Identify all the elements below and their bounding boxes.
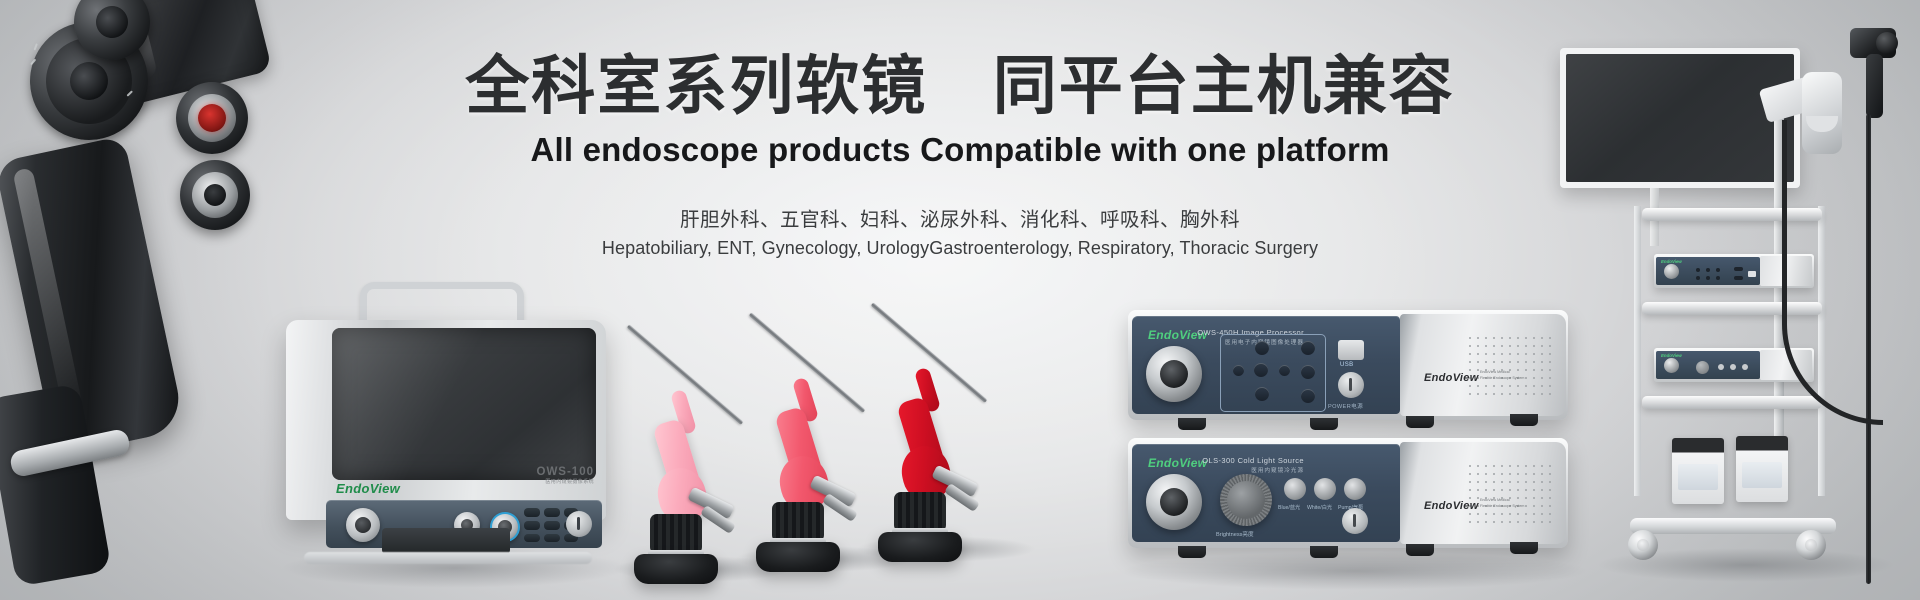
departments-chinese: 肝胆外科、五官科、妇科、泌尿外科、消化科、呼吸科、胸外科 <box>0 203 1920 232</box>
cold-light-source-ols300: EndoView OLS-300 Cold Light Source 医用内窥镜… <box>1128 438 1568 548</box>
cart-caster-right <box>1796 530 1826 560</box>
brand-endo: Endo <box>1424 500 1453 512</box>
headline-cn-part1: 全科室系列软镜 <box>465 50 927 122</box>
workstation-key-7 <box>524 534 540 542</box>
keypad-freeze-button[interactable] <box>1301 365 1315 379</box>
workstation-power-button[interactable] <box>566 511 592 537</box>
brand-view: View <box>370 481 400 496</box>
processor-vent-grille <box>1466 334 1552 400</box>
processor-foot-mid <box>1310 418 1338 430</box>
cart-unit-connector <box>1664 264 1679 279</box>
cart-insufflator-display <box>1678 464 1718 490</box>
processor-usb-label: USB <box>1340 362 1354 368</box>
keypad-enter-button[interactable] <box>1254 363 1268 377</box>
workstation-scope-socket <box>346 508 380 542</box>
cart-unit-btn-2[interactable] <box>1706 268 1710 272</box>
keypad-down-button[interactable] <box>1255 387 1269 401</box>
hanging-scope-angulation-knob <box>1876 32 1898 54</box>
light-source-side-brand: EndoView <box>1424 500 1479 512</box>
processor-power-button[interactable] <box>1338 372 1364 398</box>
cart-unit-btn-5[interactable] <box>1706 276 1710 280</box>
light-source-power-button[interactable] <box>1342 508 1368 534</box>
keypad-menu-button[interactable] <box>1301 389 1315 403</box>
cart-unit-lamp-1[interactable] <box>1718 364 1724 370</box>
workstation-brand-logo: EndoView <box>336 481 400 496</box>
brand-view: View <box>1453 372 1479 384</box>
keypad-left-button[interactable] <box>1233 365 1244 376</box>
light-source-brightness-dial[interactable] <box>1220 474 1272 526</box>
cart-unit-key-2[interactable] <box>1734 276 1743 280</box>
light-source-model-label-cn: 医用内窥镜冷光源 <box>1251 466 1304 474</box>
light-source-blue-label: Blue/蓝光 <box>1278 504 1300 511</box>
processor-stack: EndoView OWS-450H Image Processor 医用电子内窥… <box>1128 310 1578 580</box>
rigid-scope-stand-foot <box>756 542 840 572</box>
banner-text-block: 全科室系列软镜 同平台主机兼容 All endoscope products C… <box>0 52 1920 259</box>
rigid-scope-collar <box>650 514 702 554</box>
cart-insufflator <box>1672 438 1724 504</box>
processor-foot-left <box>1178 418 1206 430</box>
rigid-endoscope-red <box>864 296 1054 566</box>
light-source-foot-right <box>1406 544 1434 556</box>
workstation-key-8 <box>544 534 560 542</box>
cart-shelf-bottom <box>1642 396 1822 409</box>
product-banner: 全科室系列软镜 同平台主机兼容 All endoscope products C… <box>0 0 1920 600</box>
keypad-right-button[interactable] <box>1279 365 1290 376</box>
processor-side-badge-2: Flexible Endoscope System <box>1480 376 1524 381</box>
cart-unit-btn-4[interactable] <box>1696 276 1700 280</box>
cart-unit-face: EndoView <box>1656 257 1760 285</box>
cart-unit-dial[interactable] <box>1696 361 1709 374</box>
light-source-white-label: White/白光 <box>1307 504 1332 511</box>
light-source-white-button[interactable] <box>1314 478 1336 500</box>
processor-power-label: POWER电源 <box>1328 402 1363 410</box>
brand-view: View <box>1672 353 1682 358</box>
processor-side-panel <box>1400 314 1566 416</box>
rigid-scope-stand-foot <box>878 532 962 562</box>
workstation-key-4 <box>524 521 540 530</box>
workstation-stand-neck <box>382 528 510 554</box>
image-processor-ows450h: EndoView OWS-450H Image Processor 医用电子内窥… <box>1128 310 1568 420</box>
workstation-key-1 <box>524 508 540 517</box>
processor-side-badge-1: EndoView Medical <box>1480 370 1510 375</box>
light-source-blue-button[interactable] <box>1284 478 1306 500</box>
light-source-foot-mid <box>1310 546 1338 558</box>
cart-unit-connector <box>1664 358 1679 373</box>
brand-endo: Endo <box>1148 328 1179 342</box>
brand-endo: Endo <box>336 481 370 496</box>
light-source-foot-left <box>1178 546 1206 558</box>
rigid-scope-collar <box>894 492 946 532</box>
cart-unit-btn-1[interactable] <box>1696 268 1700 272</box>
light-source-vent-grille <box>1466 462 1552 528</box>
rigid-scope-stand-foot <box>634 554 718 584</box>
light-source-brightness-label: Brightness亮度 <box>1216 530 1254 538</box>
workstation-base-plate <box>304 552 592 564</box>
keypad-up-button[interactable] <box>1255 341 1269 355</box>
processor-front-panel: EndoView OWS-450H Image Processor 医用电子内窥… <box>1132 316 1400 414</box>
brand-view: View <box>1672 259 1682 264</box>
brand-view: View <box>1453 500 1479 512</box>
rigid-scope-collar <box>772 502 824 542</box>
headline-chinese: 全科室系列软镜 同平台主机兼容 <box>0 52 1920 121</box>
headline-cn-part2: 同平台主机兼容 <box>993 50 1455 122</box>
light-source-fiber-connector <box>1146 474 1202 530</box>
workstation-key-5 <box>544 521 560 530</box>
brand-endo: Endo <box>1424 372 1453 384</box>
light-source-model-label: OLS-300 Cold Light Source <box>1202 456 1304 465</box>
cart-unit-lamp-2[interactable] <box>1730 364 1736 370</box>
workstation-model-label: OWS-100 <box>537 466 595 478</box>
processor-scope-connector <box>1146 346 1202 402</box>
cart-unit-btn-6[interactable] <box>1716 276 1720 280</box>
cart-irrigation-display <box>1742 462 1782 488</box>
workstation-brand-row: EndoView OWS-100 医用内窥镜摄像系统 <box>330 480 598 500</box>
light-source-brand-logo: EndoView <box>1148 456 1207 470</box>
light-source-front-panel: EndoView OLS-300 Cold Light Source 医用内窥镜… <box>1132 444 1400 542</box>
light-source-side-badge-2: Flexible Endoscope System <box>1480 504 1524 509</box>
headline-english: All endoscope products Compatible with o… <box>0 131 1920 169</box>
cart-irrigation-pump <box>1736 436 1788 502</box>
light-source-foot-far <box>1510 542 1538 554</box>
light-source-side-panel <box>1400 442 1566 544</box>
brand-endo: Endo <box>1148 456 1179 470</box>
workstation-model-label-cn: 医用内窥镜摄像系统 <box>545 478 594 485</box>
cart-unit-face: EndoView <box>1656 351 1760 379</box>
light-source-pump-button[interactable] <box>1344 478 1366 500</box>
processor-foot-far <box>1510 414 1538 426</box>
light-source-side-badge-1: EndoView Medical <box>1480 498 1510 503</box>
processor-keypad <box>1220 334 1326 412</box>
cart-caster-left <box>1628 530 1658 560</box>
cart-unit-usb <box>1748 271 1756 277</box>
workstation-key-2 <box>544 508 560 517</box>
cart-unit-key-1[interactable] <box>1734 267 1743 271</box>
processor-foot-right <box>1406 416 1434 428</box>
keypad-white-balance-button[interactable] <box>1301 341 1315 355</box>
processor-side-brand: EndoView <box>1424 372 1479 384</box>
cart-unit-lamp-3[interactable] <box>1742 364 1748 370</box>
cart-unit-btn-3[interactable] <box>1716 268 1720 272</box>
processor-usb-port <box>1338 340 1364 360</box>
workstation-display <box>332 328 596 480</box>
departments-english: Hepatobiliary, ENT, Gynecology, UrologyG… <box>0 238 1920 259</box>
